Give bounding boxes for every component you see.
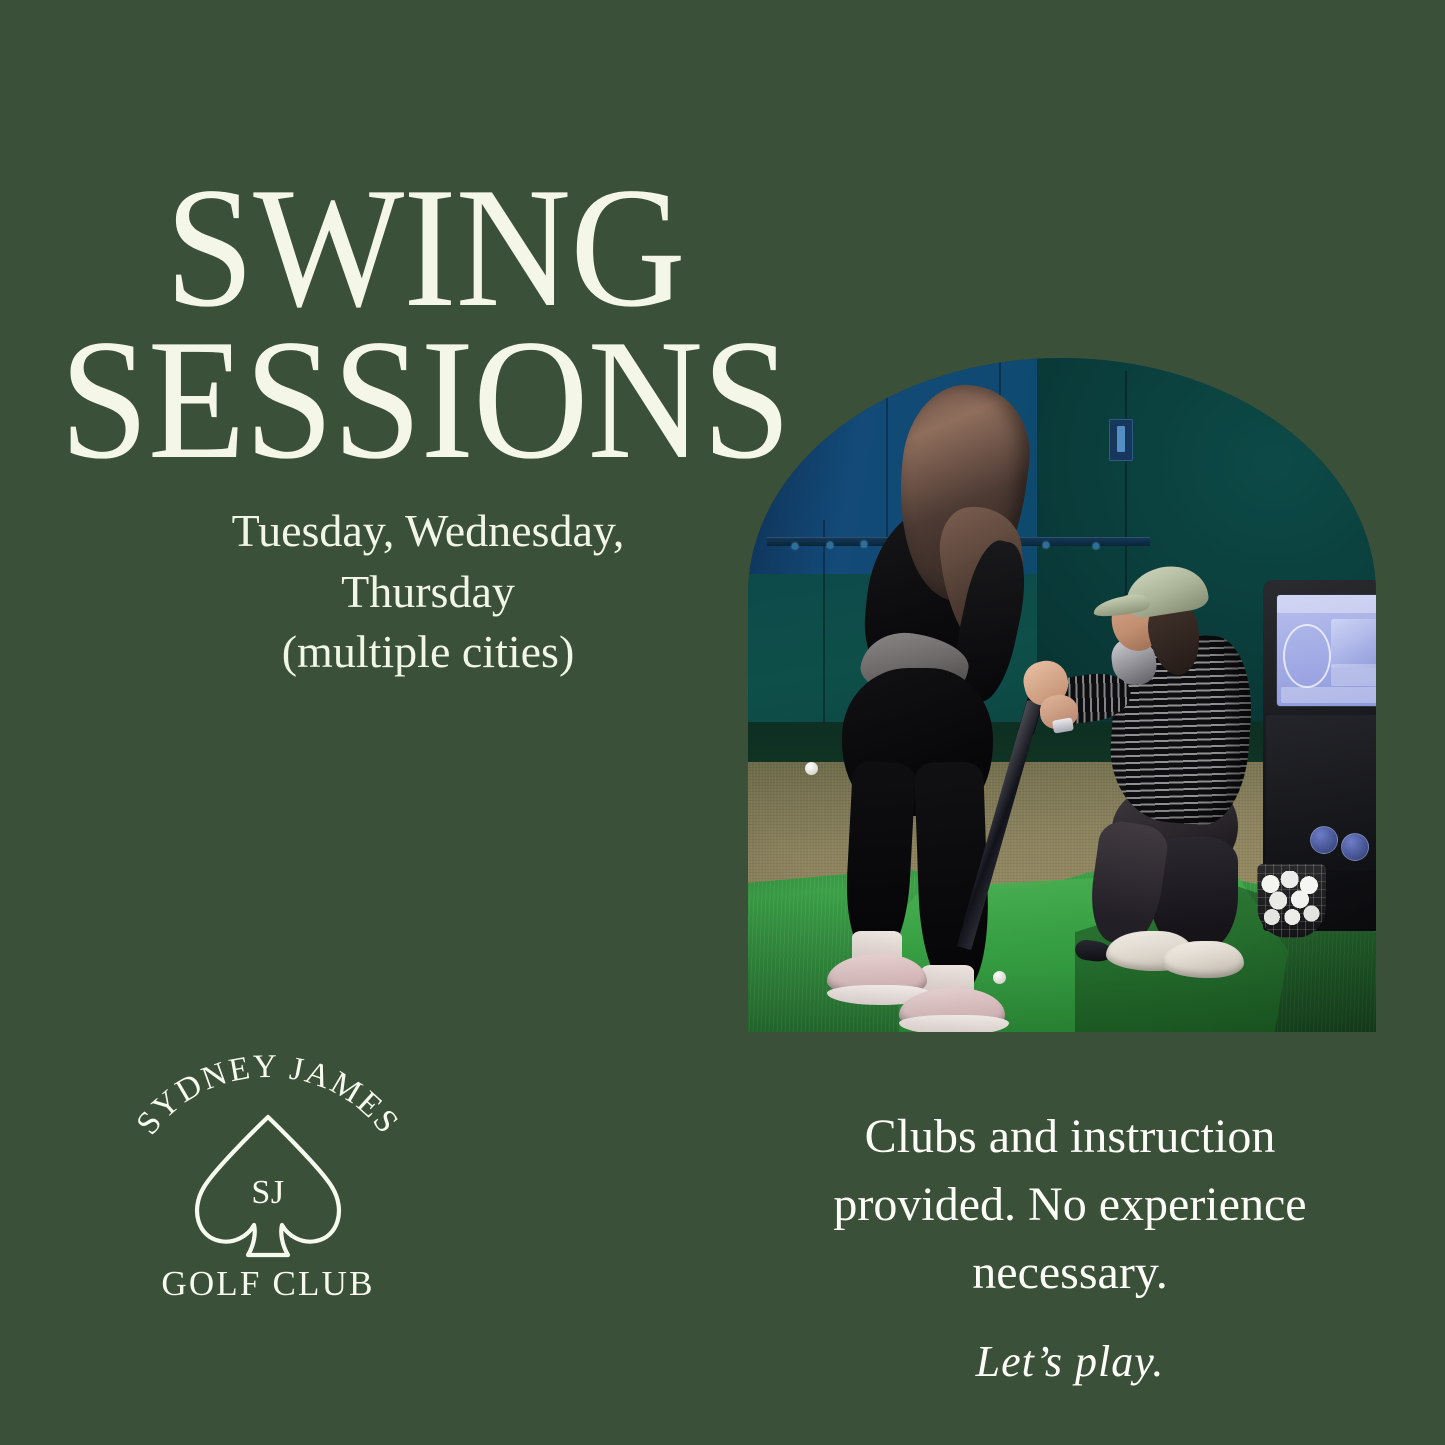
wall-rail <box>1012 537 1150 546</box>
rail-rivet <box>827 542 833 548</box>
loose-golf-ball <box>805 762 818 775</box>
screen-stats <box>1331 664 1376 686</box>
ball-basket <box>1257 864 1326 938</box>
brand-logo[interactable]: SYDNEY JAMES SJ GOLF CLUB <box>108 1055 428 1305</box>
screen-topbar <box>1277 595 1376 613</box>
logo-bottom-text: GOLF CLUB <box>161 1264 374 1303</box>
schedule-text: Tuesday, Wednesday, Thursday (multiple c… <box>150 501 706 683</box>
launch-monitor-screen <box>1276 594 1376 707</box>
logo-arc-text: SYDNEY JAMES <box>130 1055 407 1142</box>
wall-outlet-plate <box>1109 419 1133 461</box>
coach-shoe-back <box>1162 941 1244 978</box>
screen-button-row <box>1281 687 1376 703</box>
student-shoe-sole-right <box>899 1015 1009 1032</box>
caption-text: Clubs and instruction provided. No exper… <box>790 1103 1350 1307</box>
logo-monogram: SJ <box>251 1174 284 1211</box>
golf-lesson-photo <box>748 358 1376 1032</box>
screen-dial <box>1283 624 1331 688</box>
screen-shot-map <box>1331 619 1376 668</box>
signature-tagline: Let’s play. <box>870 1336 1270 1387</box>
golf-balls <box>1259 871 1323 930</box>
page-title: SWING SESSIONS <box>58 173 793 476</box>
poster-canvas: SWING SESSIONS Tuesday, Wednesday, Thurs… <box>0 0 1445 1445</box>
wall-seam <box>823 520 825 749</box>
